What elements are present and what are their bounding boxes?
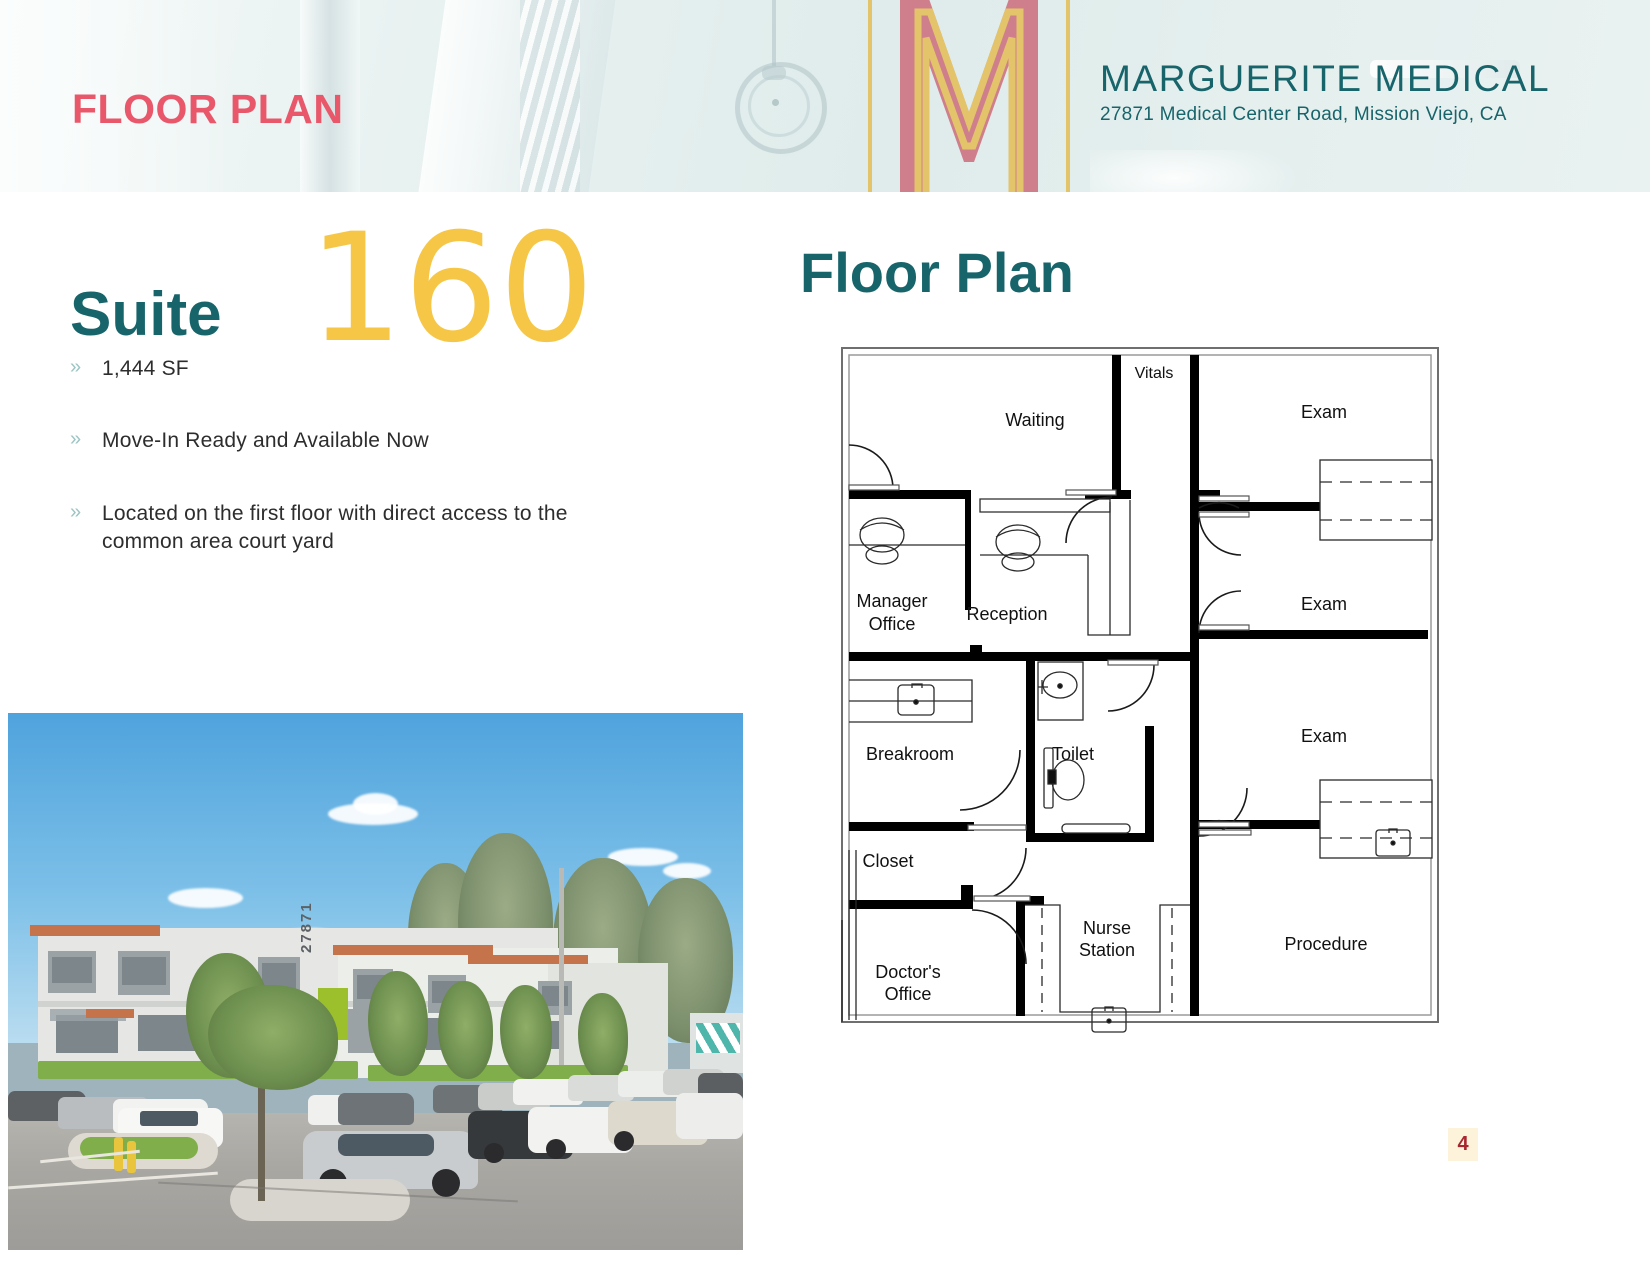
photo-curb-island bbox=[230, 1179, 410, 1221]
floorplan-inner-boundary bbox=[849, 355, 1431, 1015]
list-item-label: Located on the first floor with direct a… bbox=[102, 502, 568, 553]
photo-car-wheel bbox=[484, 1143, 504, 1163]
room-label-manager-office-line1: Manager bbox=[856, 591, 927, 611]
photo-cloud bbox=[168, 888, 243, 908]
photo-car bbox=[676, 1093, 743, 1139]
room-label-procedure: Procedure bbox=[1284, 934, 1367, 954]
page-header: FLOOR PLAN MARGUERITE MEDICAL 27871 Medi… bbox=[0, 0, 1650, 192]
header-texture-glow bbox=[1090, 150, 1300, 192]
room-label-manager-office-line2: Office bbox=[869, 614, 916, 634]
room-label-doctors-office-line1: Doctor's bbox=[875, 962, 940, 982]
photo-roof-tile bbox=[468, 955, 588, 964]
chevron-double-right-icon: » bbox=[70, 429, 81, 449]
room-label-vitals: Vitals bbox=[1135, 365, 1174, 382]
list-item: » Located on the first floor with direct… bbox=[70, 500, 582, 557]
photo-roof-tile bbox=[30, 925, 160, 936]
photo-window-glass bbox=[122, 957, 166, 985]
photo-car-wheel bbox=[614, 1131, 634, 1151]
suite-feature-list: » 1,444 SF » Move-In Ready and Available… bbox=[70, 355, 690, 600]
stethoscope-chestpiece-icon bbox=[735, 62, 827, 154]
brand-block: MARGUERITE MEDICAL 27871 Medical Center … bbox=[1100, 60, 1550, 126]
floorplan-walls bbox=[849, 355, 1430, 1016]
chevron-double-right-icon: » bbox=[70, 357, 81, 377]
photo-car-window bbox=[338, 1134, 434, 1156]
photo-tree bbox=[500, 985, 552, 1079]
page-number-badge: 4 bbox=[1448, 1128, 1478, 1161]
stethoscope-stem-icon bbox=[762, 66, 786, 80]
photo-tree bbox=[578, 993, 628, 1081]
photo-light-pole bbox=[559, 868, 564, 1078]
suite-word: Suite bbox=[70, 279, 222, 350]
photo-window-glass bbox=[52, 957, 92, 983]
photo-car bbox=[338, 1093, 414, 1125]
room-label-exam-1: Exam bbox=[1301, 402, 1347, 422]
marguerite-logo-icon bbox=[862, 0, 1077, 192]
room-label-breakroom: Breakroom bbox=[866, 744, 954, 764]
room-label-reception: Reception bbox=[966, 604, 1047, 624]
photo-cloud bbox=[663, 863, 711, 879]
photo-car-window bbox=[140, 1111, 198, 1126]
page-number: 4 bbox=[1457, 1133, 1468, 1156]
stethoscope-tube-icon bbox=[772, 0, 776, 66]
photo-address-number: 27871 bbox=[298, 901, 315, 953]
list-item: » Move-In Ready and Available Now bbox=[70, 427, 690, 455]
floorplan-drawing: Waiting Vitals Exam Exam Exam Manager Of… bbox=[820, 330, 1460, 1040]
list-item-label: Move-In Ready and Available Now bbox=[102, 429, 429, 452]
list-item: » 1,444 SF bbox=[70, 355, 690, 383]
photo-bollard bbox=[127, 1141, 136, 1173]
photo-cloud bbox=[353, 793, 398, 815]
stethoscope-center-dot-icon bbox=[772, 99, 779, 106]
room-label-doctors-office-line2: Office bbox=[885, 984, 932, 1004]
photo-awning-tile bbox=[86, 1009, 134, 1018]
property-exterior-photo: 27871 bbox=[8, 713, 743, 1250]
brand-name: MARGUERITE MEDICAL bbox=[1100, 60, 1550, 99]
photo-tree-trunk bbox=[258, 1071, 265, 1201]
room-label-nurse-station-line1: Nurse bbox=[1083, 918, 1131, 938]
photo-tree bbox=[438, 981, 493, 1079]
room-label-nurse-station-line2: Station bbox=[1079, 940, 1135, 960]
photo-distant-building-pattern bbox=[696, 1023, 740, 1053]
brand-address: 27871 Medical Center Road, Mission Viejo… bbox=[1100, 104, 1550, 126]
room-label-exam-3: Exam bbox=[1301, 726, 1347, 746]
suite-heading: Suite 160 bbox=[70, 230, 690, 350]
photo-car-wheel bbox=[432, 1169, 460, 1197]
header-kicker: FLOOR PLAN bbox=[72, 86, 343, 133]
room-label-closet: Closet bbox=[862, 851, 913, 871]
room-label-waiting: Waiting bbox=[1005, 410, 1064, 430]
stethoscope-inner-ring-icon bbox=[748, 75, 810, 137]
floorplan-svg: Waiting Vitals Exam Exam Exam Manager Of… bbox=[820, 330, 1460, 1040]
header-texture-stripes bbox=[520, 0, 580, 192]
photo-roof-tile bbox=[333, 945, 493, 955]
floorplan-title: Floor Plan bbox=[800, 240, 1074, 305]
list-item-label: 1,444 SF bbox=[102, 357, 189, 380]
room-label-exam-2: Exam bbox=[1301, 594, 1347, 614]
suite-number: 160 bbox=[308, 214, 594, 364]
photo-tree bbox=[368, 971, 428, 1076]
header-texture-coat bbox=[409, 0, 621, 192]
chevron-double-right-icon: » bbox=[70, 502, 81, 522]
room-label-toilet: Toilet bbox=[1052, 744, 1094, 764]
photo-car-wheel bbox=[546, 1139, 566, 1159]
logo-m-glyph-icon bbox=[862, 0, 1077, 192]
